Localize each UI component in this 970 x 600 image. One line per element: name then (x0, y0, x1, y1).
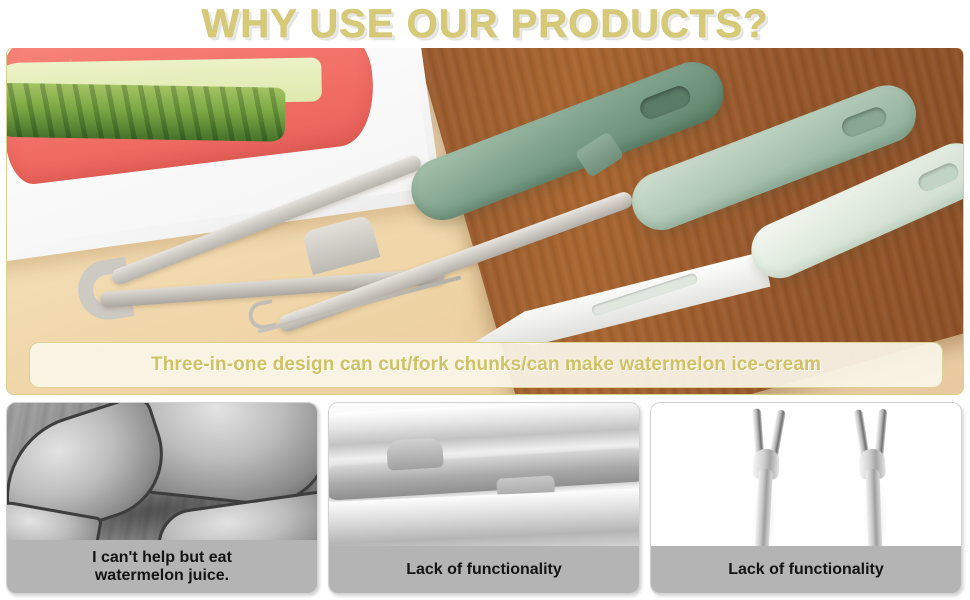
panel-messy-watermelon: I can't help but eat watermelon juice. (6, 402, 318, 594)
fork-tine (257, 275, 461, 333)
comparison-panels: I can't help but eat watermelon juice. L… (6, 402, 964, 594)
two-tine-fork (735, 410, 797, 548)
panel-two-forks: Lack of functionality (650, 402, 962, 594)
panel-caption-text: I can't help but eat watermelon juice. (92, 549, 232, 585)
two-tine-fork (844, 410, 903, 548)
panel-photo-stainless-tongs (329, 403, 639, 548)
knife-handle-hole (916, 160, 962, 194)
panel-caption-text: Lack of functionality (728, 561, 884, 579)
watermelon-rind (6, 83, 286, 142)
panel-caption-bar: Lack of functionality (651, 546, 961, 593)
rim-notch-upper (386, 437, 444, 470)
panel-photo-two-forks (651, 403, 961, 548)
white-background (651, 403, 961, 548)
panel-caption-bar: Lack of functionality (329, 546, 639, 593)
hero-caption-text: Three-in-one design can cut/fork chunks/… (151, 354, 821, 376)
hero-caption: Three-in-one design can cut/fork chunks/… (29, 342, 943, 388)
page-title: WHY USE OUR PRODUCTS? (202, 2, 769, 47)
panel-caption-text: Lack of functionality (406, 561, 562, 579)
product-infographic: WHY USE OUR PRODUCTS? (0, 0, 970, 600)
panel-steel-tongs: Lack of functionality (328, 402, 640, 594)
panel-photo-watermelon-wedges (7, 403, 317, 548)
panel-caption-bar: I can't help but eat watermelon juice. (7, 540, 317, 593)
page-title-bar: WHY USE OUR PRODUCTS? (0, 0, 970, 48)
slicer-handle-hole (637, 83, 693, 122)
fork-handle-hole (839, 104, 889, 139)
hero-panel: Three-in-one design can cut/fork chunks/… (6, 47, 964, 395)
